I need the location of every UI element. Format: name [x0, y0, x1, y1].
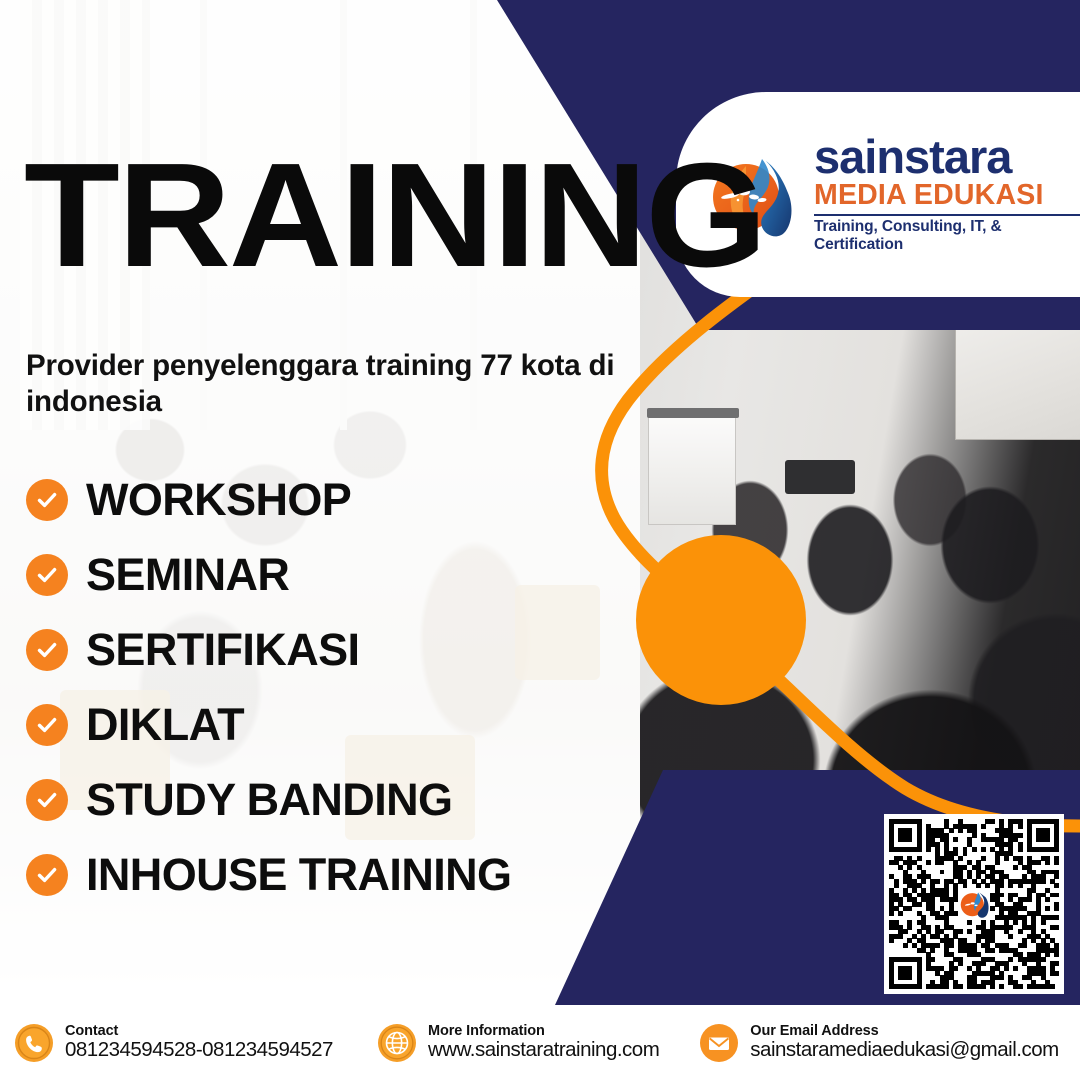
check-circle-icon: [26, 854, 68, 896]
footer-website-block[interactable]: More Information www.sainstaratraining.c…: [377, 1023, 659, 1063]
service-label: DIKLAT: [86, 702, 244, 747]
footer-contact-title: Contact: [65, 1023, 333, 1039]
qr-code[interactable]: [884, 814, 1064, 994]
footer-website-text: More Information www.sainstaratraining.c…: [428, 1023, 659, 1062]
list-item: INHOUSE TRAINING: [26, 837, 646, 912]
slide-pie-chart: [1016, 334, 1080, 402]
globe-icon: [377, 1023, 417, 1063]
footer-email-text: Our Email Address sainstaramediaedukasi@…: [750, 1023, 1058, 1062]
brand-subname: MEDIA EDUKASI: [814, 180, 1080, 211]
phone-icon: [14, 1023, 54, 1063]
services-checklist: WORKSHOP SEMINAR SERTIFIKASI DIKLAT STUD…: [26, 462, 646, 912]
page-subtitle: Provider penyelenggara training 77 kota …: [26, 348, 626, 420]
brand-name: sainstara: [814, 135, 1080, 180]
footer-contact-value: 081234594528-081234594527: [65, 1039, 333, 1062]
check-circle-icon: [26, 629, 68, 671]
list-item: DIKLAT: [26, 687, 646, 762]
list-item: SERTIFIKASI: [26, 612, 646, 687]
footer-email-value: sainstaramediaedukasi@gmail.com: [750, 1039, 1058, 1062]
footer-email-block[interactable]: Our Email Address sainstaramediaedukasi@…: [699, 1023, 1058, 1063]
list-item: STUDY BANDING: [26, 762, 646, 837]
flipchart-board: [648, 415, 736, 525]
footer-website-value: www.sainstaratraining.com: [428, 1039, 659, 1062]
footer-contact-bar: Contact 081234594528-081234594527: [0, 1005, 1080, 1080]
list-item: WORKSHOP: [26, 462, 646, 537]
training-poster: sainstara MEDIA EDUKASI Training, Consul…: [0, 0, 1080, 1080]
footer-contact-block[interactable]: Contact 081234594528-081234594527: [14, 1023, 333, 1063]
orange-circle-accent: [636, 535, 806, 705]
footer-website-title: More Information: [428, 1023, 659, 1039]
footer-contact-text: Contact 081234594528-081234594527: [65, 1023, 333, 1062]
check-circle-icon: [26, 479, 68, 521]
envelope-icon: [699, 1023, 739, 1063]
service-label: SEMINAR: [86, 552, 289, 597]
service-label: INHOUSE TRAINING: [86, 852, 511, 897]
list-item: SEMINAR: [26, 537, 646, 612]
brand-tagline: Training, Consulting, IT, & Certificatio…: [814, 218, 1080, 254]
check-circle-icon: [26, 779, 68, 821]
brand-logo-text: sainstara MEDIA EDUKASI Training, Consul…: [814, 135, 1080, 255]
service-label: SERTIFIKASI: [86, 627, 359, 672]
wall-speaker-panel: [785, 460, 855, 494]
qr-center-logo: [957, 887, 991, 921]
footer-email-title: Our Email Address: [750, 1023, 1058, 1039]
check-circle-icon: [26, 554, 68, 596]
page-title: TRAINING: [24, 152, 765, 279]
service-label: STUDY BANDING: [86, 777, 452, 822]
service-label: WORKSHOP: [86, 477, 351, 522]
check-circle-icon: [26, 704, 68, 746]
brand-divider: [814, 214, 1080, 216]
